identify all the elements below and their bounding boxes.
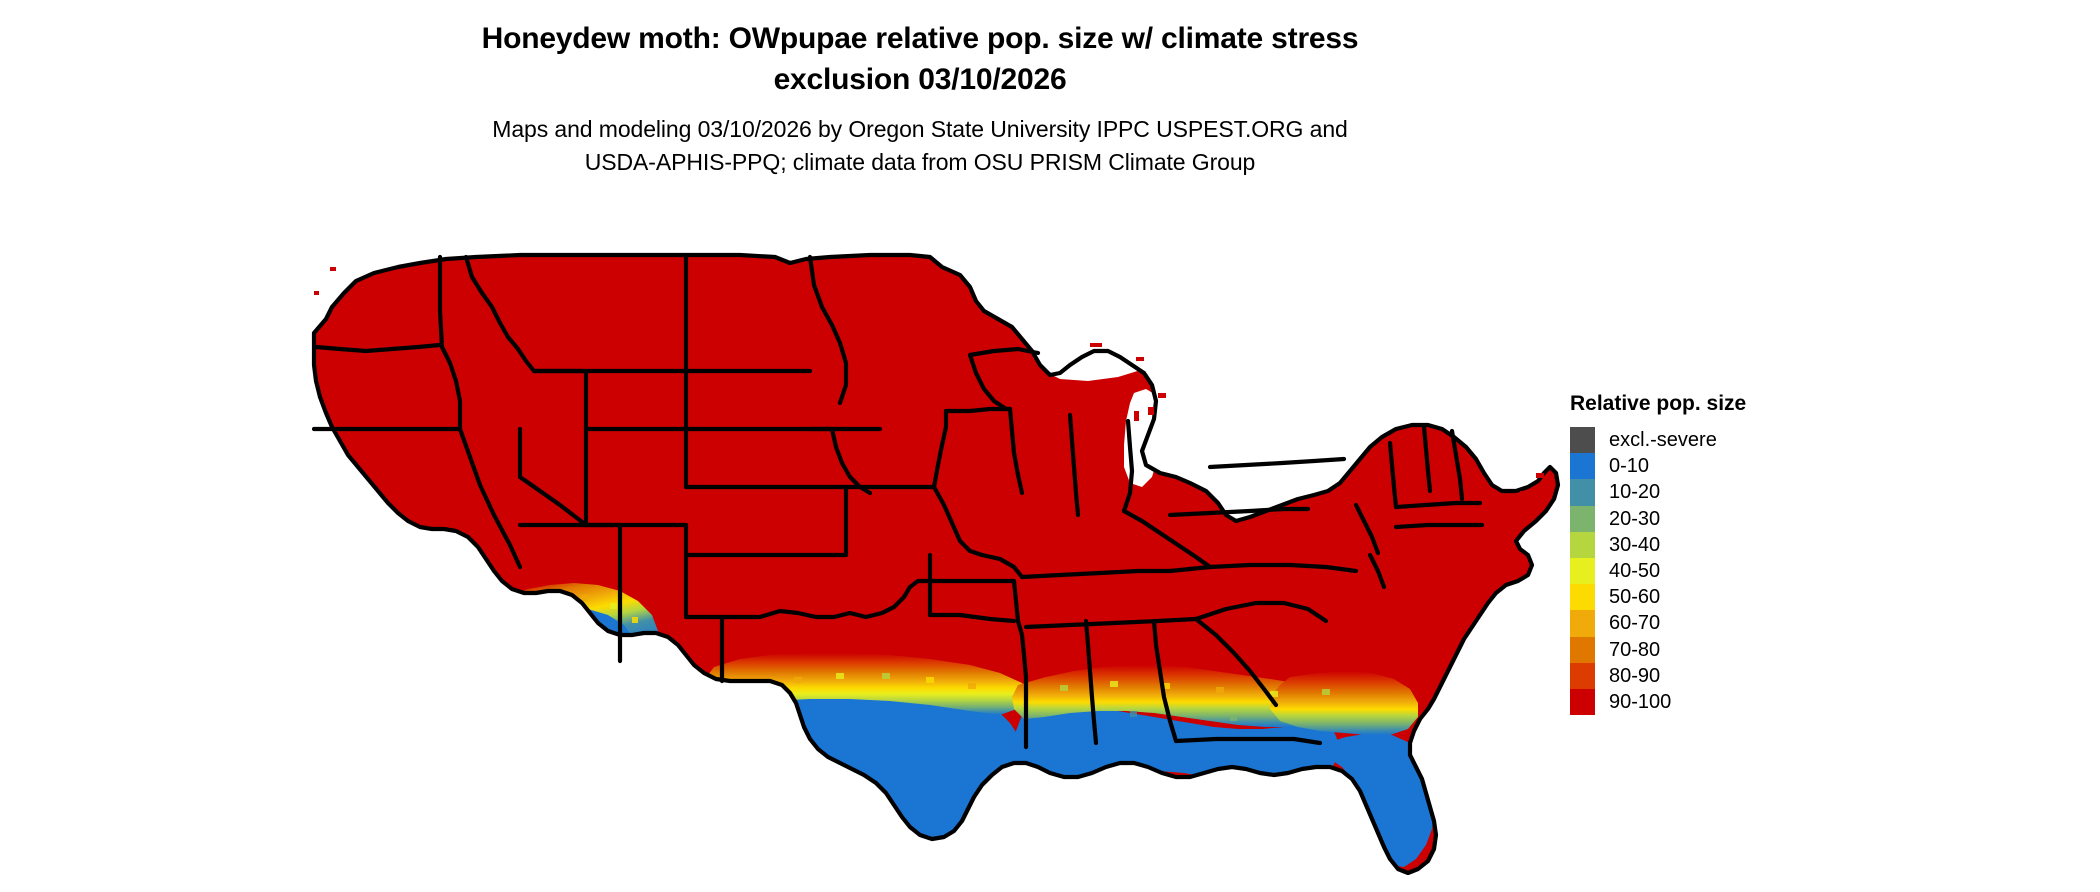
- map-container[interactable]: [270, 215, 1580, 875]
- legend-label-0-10: 0-10: [1609, 456, 1649, 476]
- legend-item-60-70[interactable]: 60-70: [1570, 610, 1746, 636]
- lake-huron: [1166, 377, 1206, 437]
- legend-item-90-100[interactable]: 90-100: [1570, 689, 1746, 715]
- legend-title: Relative pop. size: [1570, 392, 1746, 416]
- title-block: Honeydew moth: OWpupae relative pop. siz…: [0, 18, 1840, 179]
- legend-swatch-90-100: [1570, 689, 1595, 715]
- map-raster-layer: [270, 215, 1580, 875]
- border-wi-il: [946, 409, 1010, 411]
- legend-swatch-excl-severe: [1570, 427, 1595, 453]
- legend-swatch-70-80: [1570, 637, 1595, 663]
- class-0-10-region-florida: [1320, 733, 1434, 867]
- legend-item-30-40[interactable]: 30-40: [1570, 532, 1746, 558]
- legend-label-70-80: 70-80: [1609, 640, 1660, 660]
- legend-items: excl.-severe 0-10 10-20 20-30 30-40 40-5: [1570, 427, 1746, 715]
- map-legend: Relative pop. size excl.-severe 0-10 10-…: [1570, 392, 1746, 715]
- legend-item-20-30[interactable]: 20-30: [1570, 506, 1746, 532]
- legend-item-40-50[interactable]: 40-50: [1570, 558, 1746, 584]
- legend-item-70-80[interactable]: 70-80: [1570, 637, 1746, 663]
- legend-item-excl-severe[interactable]: excl.-severe: [1570, 427, 1746, 453]
- legend-label-80-90: 80-90: [1609, 666, 1660, 686]
- legend-label-10-20: 10-20: [1609, 482, 1660, 502]
- border-ct-ny: [1396, 525, 1482, 527]
- legend-swatch-10-20: [1570, 479, 1595, 505]
- legend-swatch-30-40: [1570, 532, 1595, 558]
- legend-label-20-30: 20-30: [1609, 509, 1660, 529]
- class-0-10-region-texas: [740, 693, 1022, 841]
- border-pa-ny: [1210, 459, 1344, 467]
- legend-item-10-20[interactable]: 10-20: [1570, 479, 1746, 505]
- map-page: Honeydew moth: OWpupae relative pop. siz…: [0, 0, 2100, 892]
- legend-item-80-90[interactable]: 80-90: [1570, 663, 1746, 689]
- legend-item-50-60[interactable]: 50-60: [1570, 584, 1746, 610]
- legend-swatch-80-90: [1570, 663, 1595, 689]
- legend-label-90-100: 90-100: [1609, 692, 1671, 712]
- class-0-10-region-imperial: [428, 619, 518, 689]
- legend-item-0-10[interactable]: 0-10: [1570, 453, 1746, 479]
- legend-label-60-70: 60-70: [1609, 613, 1660, 633]
- legend-swatch-20-30: [1570, 506, 1595, 532]
- page-subtitle: Maps and modeling 03/10/2026 by Oregon S…: [0, 113, 1840, 179]
- border-wa-id: [440, 257, 442, 347]
- legend-swatch-40-50: [1570, 558, 1595, 584]
- us-choropleth-map[interactable]: [270, 215, 1580, 875]
- legend-swatch-60-70: [1570, 610, 1595, 636]
- gradient-band-imperial: [424, 603, 528, 665]
- legend-label-30-40: 30-40: [1609, 535, 1660, 555]
- page-title: Honeydew moth: OWpupae relative pop. siz…: [0, 18, 1840, 100]
- legend-label-excl-severe: excl.-severe: [1609, 430, 1717, 450]
- legend-label-40-50: 40-50: [1609, 561, 1660, 581]
- legend-swatch-0-10: [1570, 453, 1595, 479]
- legend-label-50-60: 50-60: [1609, 587, 1660, 607]
- legend-swatch-50-60: [1570, 584, 1595, 610]
